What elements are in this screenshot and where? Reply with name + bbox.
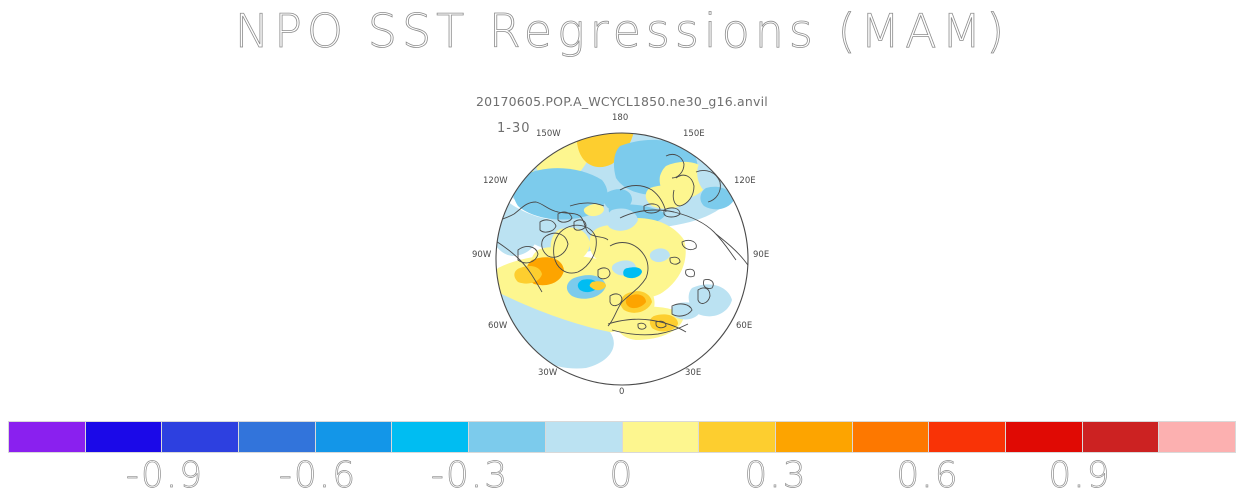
polar-stereographic-map	[470, 110, 775, 405]
colorbar-band-11	[776, 422, 853, 452]
colorbar-band-2	[86, 422, 163, 452]
colorbar-tick-neg09: -0.9	[126, 455, 204, 496]
lon-label-30W: 30W	[538, 368, 557, 378]
colorbar-band-9	[623, 422, 700, 452]
colorbar-tick-pos09: 0.9	[1048, 455, 1111, 496]
colorbar-tick-pos03: 0.3	[744, 455, 807, 496]
colorbar-band-4	[239, 422, 316, 452]
page-title: NPO SST Regressions (MAM)	[0, 4, 1244, 58]
lon-label-0: 0	[619, 387, 624, 397]
colorbar-band-13	[929, 422, 1006, 452]
case-subtitle: 20170605.POP.A_WCYCL1850.ne30_g16.anvil	[0, 94, 1244, 109]
lon-label-90E: 90E	[753, 250, 769, 260]
colorbar-tick-neg03: -0.3	[431, 455, 509, 496]
polar-map-panel: 180 150E 120E 90E 60E 30E 0 30W 60W 90W …	[470, 110, 775, 405]
colorbar-band-10	[699, 422, 776, 452]
lon-label-30E: 30E	[685, 368, 701, 378]
lon-label-150E: 150E	[683, 129, 705, 139]
colorbar-tick-zero: 0	[610, 455, 635, 496]
colorbar-tick-labels: -0.9 -0.6 -0.3 0 0.3 0.6 0.9	[8, 455, 1236, 500]
lon-label-60W: 60W	[488, 321, 507, 331]
colorbar-band-1	[9, 422, 86, 452]
lon-label-90W: 90W	[472, 250, 491, 260]
colorbar-band-3	[162, 422, 239, 452]
map-field-layer	[488, 110, 748, 385]
colorbar-band-15	[1083, 422, 1160, 452]
lon-label-60E: 60E	[736, 321, 752, 331]
colorbar-band-5	[316, 422, 393, 452]
colorbar-tick-pos06: 0.6	[896, 455, 959, 496]
lon-label-150W: 150W	[536, 129, 561, 139]
colorbar-band-6	[392, 422, 469, 452]
lon-label-120E: 120E	[734, 176, 756, 186]
colorbar-band-16	[1159, 422, 1235, 452]
colorbar-band-8	[546, 422, 623, 452]
colorbar[interactable]	[8, 421, 1236, 453]
colorbar-band-14	[1006, 422, 1083, 452]
colorbar-band-12	[853, 422, 930, 452]
lon-label-180: 180	[612, 113, 628, 123]
colorbar-band-7	[469, 422, 546, 452]
lon-label-120W: 120W	[483, 176, 508, 186]
colorbar-tick-neg06: -0.6	[279, 455, 357, 496]
